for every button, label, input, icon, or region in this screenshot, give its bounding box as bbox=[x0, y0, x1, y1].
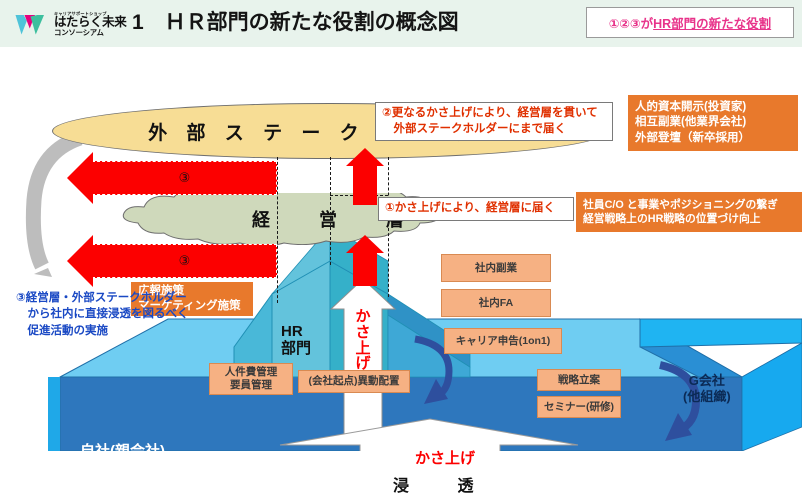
chip-jinkenhi-line2: 要員管理 bbox=[230, 379, 272, 392]
chip-ido-haichi: (会社起点)異動配置 bbox=[298, 370, 410, 393]
chip-shanai-fukugyo: 社内副業 bbox=[441, 254, 551, 282]
red-arrow-three-upper: ③ bbox=[92, 161, 277, 195]
brand-logo: キャリアサポートショップ はたらく未来 コンソーシアム bbox=[14, 5, 124, 43]
slide-canvas: キャリアサポートショップ はたらく未来 コンソーシアム 1 ＨＲ部門の新たな役割… bbox=[0, 0, 802, 451]
hr-department-line1: HR bbox=[281, 323, 311, 340]
diagram-area: 外 部 ス テ ー ク ホ ル ダ ー 経 営 層 ③ ③ ② ① ②更なるかさ… bbox=[0, 47, 802, 451]
chip-shanai-fukugyo-label: 社内副業 bbox=[475, 262, 517, 275]
role-badge-text: ①②③がHR部門の新たな役割 bbox=[609, 13, 771, 32]
note-three-line2: から社内に直接浸透を図るべく bbox=[16, 306, 189, 322]
role-badge: ①②③がHR部門の新たな役割 bbox=[586, 7, 794, 38]
red-arrow-three-lower: ③ bbox=[92, 244, 277, 278]
group-company-line1: G会社 bbox=[683, 373, 731, 389]
chip-career-1on1: キャリア申告(1on1) bbox=[444, 328, 562, 354]
orange-mid-line1: 社員C/O と事業やポジショニングの繋ぎ bbox=[583, 198, 795, 212]
callout-one: ①かさ上げにより、経営層に届く bbox=[378, 197, 574, 221]
vertical-kasaage-label: かさ上げ bbox=[350, 309, 376, 372]
chip-senryaku-label: 戦略立案 bbox=[558, 374, 600, 387]
red-arrow-three-upper-label: ③ bbox=[179, 170, 191, 186]
marker-two: ② bbox=[356, 171, 369, 189]
callout-one-line1: ①かさ上げにより、経営層に届く bbox=[385, 201, 567, 217]
orange-mid-line2: 経営戦略上のHR戦略の位置づけ向上 bbox=[583, 212, 795, 226]
hr-department-line2: 部門 bbox=[281, 340, 311, 357]
group-company-label: G会社 (他組織) bbox=[683, 373, 731, 406]
chip-shanai-fa-label: 社内FA bbox=[479, 297, 513, 310]
orange-top-line1: 人的資本開示(投資家) bbox=[635, 100, 791, 115]
chip-seminar-label: セミナー(研修) bbox=[544, 401, 614, 414]
page-title: 1 ＨＲ部門の新たな役割の概念図 bbox=[132, 6, 459, 36]
bottom-kasaage-label: かさ上げ bbox=[415, 447, 475, 468]
dash-guide-left bbox=[277, 157, 278, 303]
orange-block-mid: 社員C/O と事業やポジショニングの繋ぎ 経営戦略上のHR戦略の位置づけ向上 bbox=[576, 192, 802, 232]
orange-top-line3: 外部登壇（新卒採用） bbox=[635, 131, 791, 146]
callout-two-line2: 外部ステークホルダーにまで届く bbox=[382, 122, 606, 138]
logo-name: はたらく未来 bbox=[54, 16, 126, 29]
orange-top-line2: 相互副業(他業界会社) bbox=[635, 115, 791, 130]
chip-seminar: セミナー(研修) bbox=[537, 396, 621, 418]
chip-ido-haichi-label: (会社起点)異動配置 bbox=[309, 375, 400, 388]
logo-subname: コンソーシアム bbox=[54, 29, 126, 36]
penetration-label: 浸 透 bbox=[393, 472, 495, 496]
hr-department-label: HR 部門 bbox=[281, 323, 311, 358]
chip-shanai-fa: 社内FA bbox=[441, 289, 551, 317]
note-three: ③経営層・外部ステークホルダー から社内に直接浸透を図るべく 促進活動の実施 bbox=[16, 290, 189, 339]
note-three-line1: ③経営層・外部ステークホルダー bbox=[16, 290, 189, 306]
w-logo-icon bbox=[14, 9, 50, 39]
note-three-line3: 促進活動の実施 bbox=[16, 323, 189, 339]
red-arrow-three-lower-label: ③ bbox=[179, 253, 191, 269]
orange-block-top: 人的資本開示(投資家) 相互副業(他業界会社) 外部登壇（新卒採用） bbox=[628, 95, 798, 151]
dash-guide-mid bbox=[330, 157, 331, 265]
chip-jinkenhi: 人件費管理 要員管理 bbox=[209, 363, 293, 395]
chip-jinkenhi-line1: 人件費管理 bbox=[225, 366, 278, 379]
role-badge-prefix: ①②③が bbox=[609, 17, 653, 31]
slide-header: キャリアサポートショップ はたらく未来 コンソーシアム 1 ＨＲ部門の新たな役割… bbox=[0, 0, 802, 47]
dash-guide-right bbox=[388, 157, 389, 297]
role-badge-underlined: HR部門の新たな役割 bbox=[653, 17, 771, 31]
marker-one: ① bbox=[356, 256, 369, 274]
callout-two: ②更なるかさ上げにより、経営層を貫いて 外部ステークホルダーにまで届く bbox=[375, 102, 613, 141]
chip-career-1on1-label: キャリア申告(1on1) bbox=[456, 335, 551, 348]
chip-senryaku: 戦略立案 bbox=[537, 369, 621, 391]
callout-two-line1: ②更なるかさ上げにより、経営層を貫いて bbox=[382, 106, 606, 122]
group-company-line2: (他組織) bbox=[683, 389, 731, 405]
